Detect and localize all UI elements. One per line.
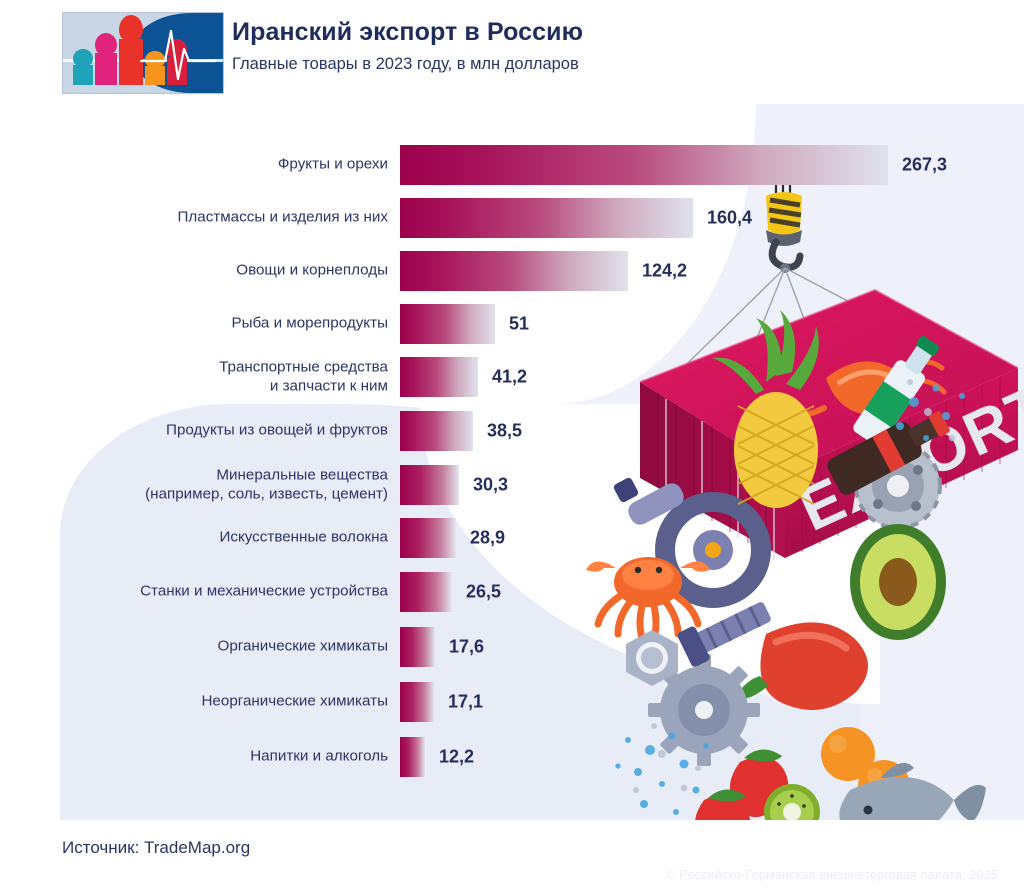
bar-value-label: 160,4 bbox=[707, 208, 752, 229]
bar-category-label: Органические химикаты bbox=[48, 638, 388, 657]
bar bbox=[400, 304, 495, 344]
bar-category-label: Фрукты и орехи bbox=[48, 156, 388, 175]
title-block: Иранский экспорт в Россию Главные товары… bbox=[232, 18, 583, 75]
pulse-line-icon bbox=[139, 19, 217, 89]
bar-category-label: Неорганические химикаты bbox=[48, 693, 388, 712]
bar-chart: Фрукты и орехи267,3Пластмассы и изделия … bbox=[0, 104, 1024, 820]
bar-value-label: 17,1 bbox=[448, 692, 483, 713]
bar bbox=[400, 518, 456, 558]
bar bbox=[400, 251, 628, 291]
page-title: Иранский экспорт в Россию bbox=[232, 18, 583, 47]
bar bbox=[400, 627, 435, 667]
source-text: Источник: TradeMap.org bbox=[62, 838, 250, 858]
footer: Источник: TradeMap.org © Российско-Герма… bbox=[0, 820, 1024, 893]
bar bbox=[400, 465, 459, 505]
dome-teal bbox=[73, 49, 93, 85]
bar-category-label: Напитки и алкоголь bbox=[48, 748, 388, 767]
bar bbox=[400, 198, 693, 238]
dome-magenta bbox=[95, 33, 117, 85]
bar-value-label: 17,6 bbox=[449, 637, 484, 658]
bar-category-label: Рыба и морепродукты bbox=[48, 315, 388, 334]
bar bbox=[400, 411, 473, 451]
header: Иранский экспорт в Россию Главные товары… bbox=[0, 0, 1024, 104]
bar-category-label: Транспортные средства и запчасти к ним bbox=[48, 358, 388, 395]
bar-category-label: Минеральные вещества (например, соль, из… bbox=[48, 466, 388, 503]
bar bbox=[400, 357, 478, 397]
bar bbox=[400, 737, 425, 777]
bar-category-label: Искусственные волокна bbox=[48, 529, 388, 548]
bar bbox=[400, 682, 434, 722]
bar-value-label: 267,3 bbox=[902, 155, 947, 176]
copyright-text: © Российско-Германская внешнеторговая па… bbox=[666, 868, 998, 882]
bar-category-label: Овощи и корнеплоды bbox=[48, 262, 388, 281]
bar-value-label: 41,2 bbox=[492, 367, 527, 388]
bar-value-label: 28,9 bbox=[470, 528, 505, 549]
bar bbox=[400, 145, 888, 185]
page-subtitle: Главные товары в 2023 году, в млн доллар… bbox=[232, 55, 583, 75]
bar-value-label: 51 bbox=[509, 314, 529, 335]
russian-german-chamber-logo-icon bbox=[62, 12, 224, 94]
bar-category-label: Пластмассы и изделия из них bbox=[48, 209, 388, 228]
bar bbox=[400, 572, 452, 612]
bar-value-label: 30,3 bbox=[473, 475, 508, 496]
bar-category-label: Продукты из овощей и фруктов bbox=[48, 422, 388, 441]
bar-value-label: 26,5 bbox=[466, 582, 501, 603]
bar-value-label: 38,5 bbox=[487, 421, 522, 442]
bar-value-label: 12,2 bbox=[439, 747, 474, 768]
bar-category-label: Станки и механические устройства bbox=[48, 583, 388, 602]
bar-value-label: 124,2 bbox=[642, 261, 687, 282]
